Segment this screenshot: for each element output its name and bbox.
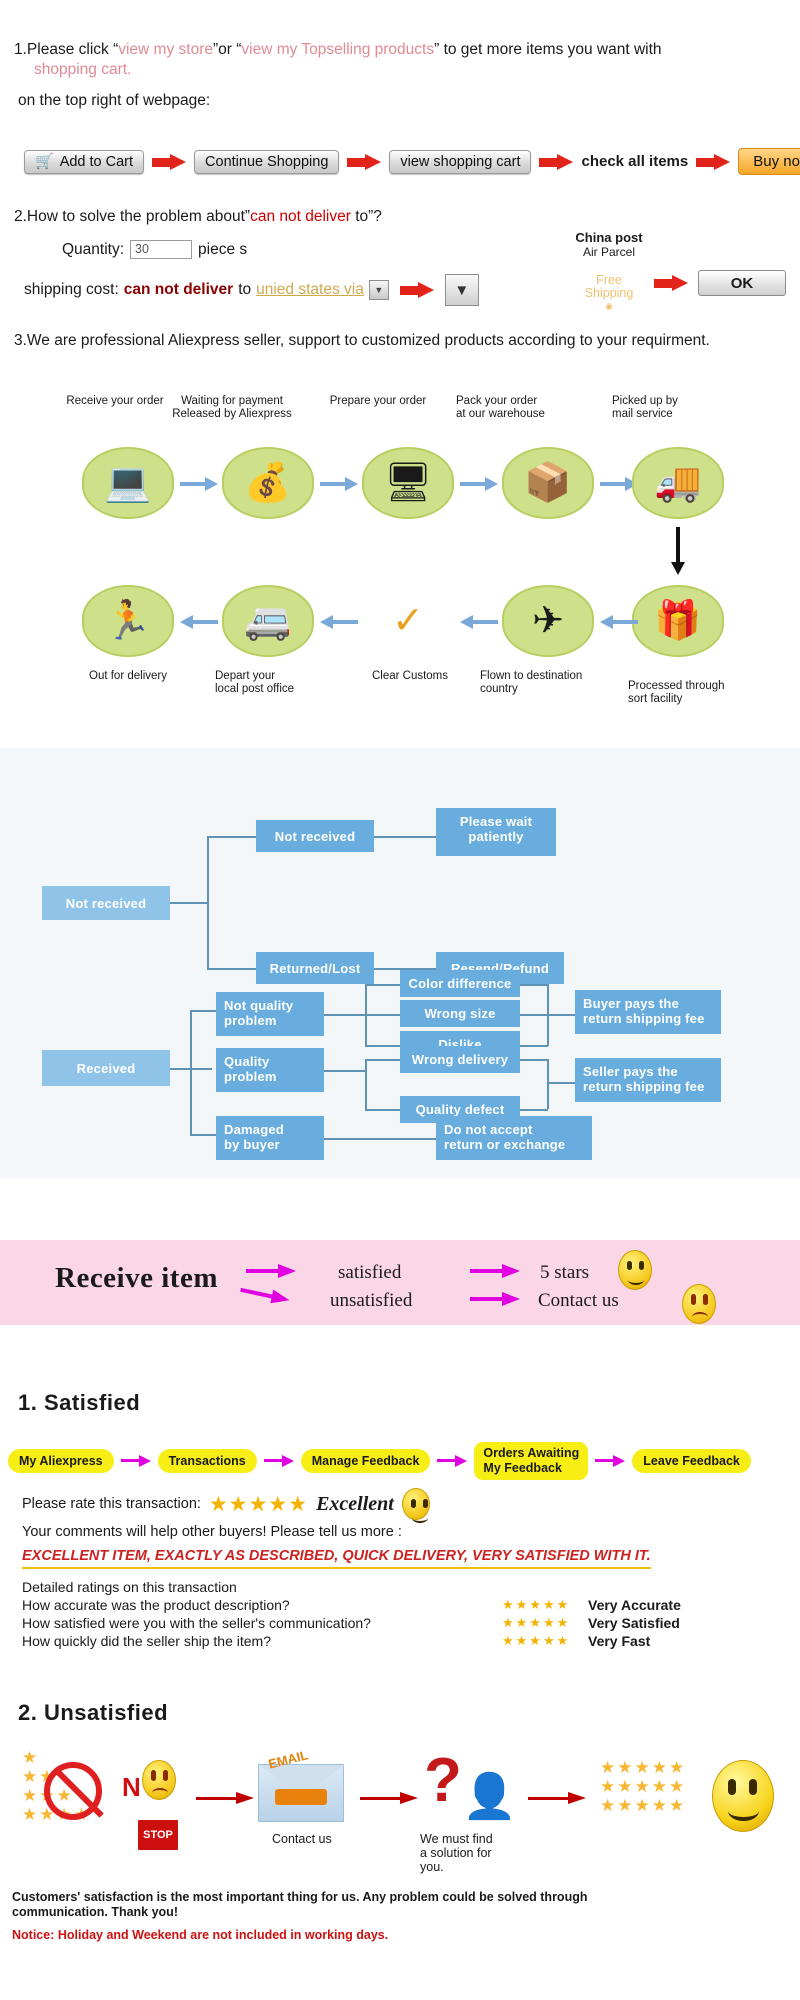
quantity-row: Quantity: 30 piece s bbox=[62, 240, 247, 259]
seller-pays-l1: Seller pays the bbox=[583, 1064, 678, 1079]
receive-item-satisfied: satisfied bbox=[338, 1262, 401, 1284]
delivery-truck-icon: 🚚 bbox=[632, 447, 724, 519]
connector-h-4 bbox=[374, 836, 436, 838]
comments-prompt: Your comments will help other buyers! Pl… bbox=[22, 1524, 782, 1540]
return-policy-flowchart: Not received Not received Please waitpat… bbox=[0, 748, 800, 1178]
connector-h-23 bbox=[324, 1138, 436, 1140]
arrow-unsatisfied-icon bbox=[239, 1283, 291, 1307]
receive-item-banner: Receive item satisfied unsatisfied 5 sta… bbox=[0, 1240, 800, 1325]
flow-caption-receive-order: Receive your order bbox=[60, 395, 170, 408]
no-return-l2: return or exchange bbox=[444, 1137, 565, 1152]
no-letter-label: N bbox=[122, 1772, 141, 1803]
receive-item-5-stars: 5 stars bbox=[540, 1262, 589, 1284]
flow-arrow-1 bbox=[180, 477, 218, 491]
detailed-ratings-title: Detailed ratings on this transaction bbox=[22, 1578, 782, 1596]
solution-caption: We must finda solution foryou. bbox=[420, 1832, 540, 1874]
detailed-rating-row: How quickly did the seller ship the item… bbox=[22, 1632, 782, 1650]
connector-v-2 bbox=[190, 1010, 192, 1134]
arrow-right-icon-12 bbox=[360, 1792, 418, 1804]
flow-arrow-down bbox=[671, 527, 685, 575]
flow-arrow-3 bbox=[460, 477, 498, 491]
flow-node-color-difference: Color difference bbox=[400, 970, 520, 997]
smiley-face-icon-small bbox=[402, 1488, 430, 1520]
thinking-person-icon: 👤 bbox=[462, 1770, 517, 1822]
shipping-to-text: to bbox=[238, 281, 251, 299]
connector-h-21 bbox=[520, 1109, 548, 1111]
star-grid-row-3: ★★★★★ bbox=[600, 1796, 686, 1815]
five-star-grid: ★★★★★ ★★★★★ ★★★★★ bbox=[600, 1758, 686, 1815]
arrow-right-icon-5 bbox=[400, 282, 434, 298]
detailed-answer-2: Very Satisfied bbox=[588, 1614, 680, 1632]
flow-caption-picked-up: Picked up bymail service bbox=[612, 395, 722, 421]
checkout-steps-row: 🛒 Add to Cart Continue Shopping view sho… bbox=[24, 148, 800, 175]
money-bag-icon: 💰 bbox=[222, 447, 314, 519]
star-grid-row-1: ★★★★★ bbox=[600, 1758, 686, 1777]
connector-v-6 bbox=[547, 1059, 549, 1109]
connector-h-13 bbox=[520, 984, 548, 986]
connector-h-8 bbox=[190, 1134, 216, 1136]
arrow-contact-icon bbox=[470, 1292, 520, 1306]
connector-h-15 bbox=[520, 1045, 548, 1047]
damaged-l2: by buyer bbox=[224, 1137, 280, 1152]
connector-h-17 bbox=[324, 1070, 366, 1072]
section-2-heading: 2.How to solve the problem about”can not… bbox=[14, 208, 794, 226]
contact-us-caption: Contact us bbox=[272, 1832, 332, 1846]
rating-block: Please rate this transaction: ★★★★★ Exce… bbox=[22, 1488, 782, 1569]
section-2-heading-red: can not deliver bbox=[250, 208, 351, 225]
connector-h-18 bbox=[365, 1059, 401, 1061]
flow-caption-waiting-payment: Waiting for paymentReleased by Aliexpres… bbox=[162, 395, 302, 421]
receive-item-contact-us: Contact us bbox=[538, 1290, 619, 1312]
section-1-shopping-cart-text: shopping cart. bbox=[14, 60, 794, 80]
flow-caption-prepare-order: Prepare your order bbox=[323, 395, 433, 408]
connector-h-12 bbox=[365, 1045, 401, 1047]
flow-arrow-2 bbox=[320, 477, 358, 491]
connector-h-14 bbox=[520, 1014, 548, 1016]
detailed-question-1: How accurate was the product description… bbox=[22, 1596, 502, 1614]
receive-item-unsatisfied: unsatisfied bbox=[330, 1290, 412, 1312]
view-shopping-cart-button[interactable]: view shopping cart bbox=[389, 150, 531, 174]
arrow-right-icon-1 bbox=[152, 154, 186, 170]
connector-h-11 bbox=[365, 1014, 401, 1016]
not-quality-l1: Not quality bbox=[224, 998, 293, 1013]
free-shipping-badge: Free Shipping ◉ bbox=[549, 274, 669, 313]
footer-line-2: communication. Thank you! bbox=[12, 1905, 792, 1920]
section-3-customization-note: 3.We are professional Aliexpress seller,… bbox=[14, 332, 710, 350]
free-shipping-radio-icon[interactable]: ◉ bbox=[549, 300, 669, 313]
worker-boxes-icon: 📦 bbox=[502, 447, 594, 519]
quantity-unit-label: piece s bbox=[198, 241, 247, 259]
free-shipping-line2: Shipping bbox=[549, 287, 669, 300]
flow-caption-sort-facility: Processed throughsort facility bbox=[628, 680, 756, 706]
crying-face-icon bbox=[142, 1760, 176, 1800]
shipping-cannot-deliver-text: can not deliver bbox=[124, 281, 233, 299]
arrow-right-icon-13 bbox=[528, 1792, 586, 1804]
detailed-stars-2[interactable]: ★★★★★ bbox=[502, 1614, 588, 1632]
detailed-answer-3: Very Fast bbox=[588, 1632, 650, 1650]
flow-caption-out-for-delivery: Out for delivery bbox=[68, 670, 188, 683]
flow-node-buyer-pays: Buyer pays thereturn shipping fee bbox=[575, 990, 721, 1034]
connector-h-1 bbox=[170, 902, 208, 904]
rate-transaction-label: Please rate this transaction: bbox=[22, 1496, 201, 1512]
detailed-question-2: How satisfied were you with the seller's… bbox=[22, 1614, 502, 1632]
detailed-rating-row: How accurate was the product description… bbox=[22, 1596, 782, 1614]
arrow-right-icon-7 bbox=[121, 1455, 151, 1467]
airplane-icon: ✈ bbox=[502, 585, 594, 657]
view-my-store-link[interactable]: view my store bbox=[118, 41, 213, 58]
shopping-cart-icon: 🛒 bbox=[35, 154, 54, 169]
satisfied-heading: 1. Satisfied bbox=[18, 1390, 140, 1416]
email-envelope-icon bbox=[258, 1764, 344, 1822]
detailed-stars-1[interactable]: ★★★★★ bbox=[502, 1596, 588, 1614]
footer-note: Customers' satisfaction is the most impo… bbox=[12, 1890, 792, 1942]
connector-v-1 bbox=[207, 836, 209, 968]
frowning-face-icon bbox=[682, 1284, 716, 1324]
ok-button[interactable]: OK bbox=[698, 270, 786, 296]
stop-sign-icon: STOP bbox=[136, 1818, 180, 1852]
section-2-heading-suffix: to”? bbox=[351, 208, 382, 225]
connector-h-16 bbox=[547, 1014, 575, 1016]
connector-h-20 bbox=[520, 1059, 548, 1061]
shipping-cost-label: shipping cost: bbox=[24, 281, 119, 299]
flow-node-wrong-delivery: Wrong delivery bbox=[400, 1046, 520, 1073]
connector-h-9 bbox=[324, 1014, 366, 1016]
continue-shopping-button[interactable]: Continue Shopping bbox=[194, 150, 339, 174]
shipping-cost-row: shipping cost:can not deliver to unied s… bbox=[24, 274, 479, 306]
footer-line-1: Customers' satisfaction is the most impo… bbox=[12, 1890, 792, 1905]
connector-h-22 bbox=[547, 1082, 575, 1084]
customs-stamp-icon: ✓ bbox=[362, 585, 454, 657]
arrow-right-icon-4 bbox=[696, 154, 730, 170]
footer-notice: Notice: Holiday and Weekend are not incl… bbox=[12, 1928, 792, 1942]
section-1-tail-text: ” to get more items you want with bbox=[434, 41, 661, 58]
buyer-pays-l2: return shipping fee bbox=[583, 1011, 705, 1026]
comment-text[interactable]: EXCELLENT ITEM, EXACTLY AS DESCRIBED, QU… bbox=[22, 1548, 651, 1569]
section-1-store-links: 1.Please click “view my store”or “view m… bbox=[14, 40, 794, 110]
arrow-right-icon-2 bbox=[347, 154, 381, 170]
flow-node-please-wait: Please waitpatiently bbox=[436, 808, 556, 856]
feedback-steps-row: My Aliexpress Transactions Manage Feedba… bbox=[8, 1442, 751, 1480]
continue-shopping-label: Continue Shopping bbox=[205, 154, 328, 170]
buy-now-button[interactable]: Buy now bbox=[738, 148, 800, 175]
connector-h-7 bbox=[190, 1010, 216, 1012]
flow-node-please-wait-l2: patiently bbox=[468, 829, 523, 844]
flow-node-not-received-root: Not received bbox=[42, 886, 170, 920]
flow-caption-flown-destination: Flown to destinationcountry bbox=[480, 670, 608, 696]
not-quality-l2: problem bbox=[224, 1013, 277, 1028]
chevron-down-icon-small[interactable]: ▼ bbox=[369, 280, 389, 300]
arrow-right-icon-3 bbox=[539, 154, 573, 170]
detailed-ratings-block: Detailed ratings on this transaction How… bbox=[22, 1578, 782, 1650]
connector-h-19 bbox=[365, 1109, 401, 1111]
flow-arrow-8 bbox=[600, 615, 638, 629]
courier-running-icon: 🏃 bbox=[82, 585, 174, 657]
flow-node-quality-problem: Qualityproblem bbox=[216, 1048, 324, 1092]
rate-transaction-row: Please rate this transaction: ★★★★★ Exce… bbox=[22, 1488, 782, 1520]
step-transactions[interactable]: Transactions bbox=[158, 1449, 257, 1473]
step-my-aliexpress[interactable]: My Aliexpress bbox=[8, 1449, 114, 1473]
ok-row: OK bbox=[654, 270, 786, 296]
unsatisfied-heading: 2. Unsatisfied bbox=[18, 1700, 168, 1726]
destination-country-value[interactable]: unied states via bbox=[256, 281, 364, 299]
add-to-cart-label: Add to Cart bbox=[60, 154, 133, 170]
question-mark-icon: ? bbox=[424, 1750, 462, 1812]
carrier-name: China post bbox=[549, 230, 669, 245]
detailed-rating-row: How satisfied were you with the seller's… bbox=[22, 1614, 782, 1632]
person-at-computer-icon: 💻 bbox=[82, 447, 174, 519]
computer-icon: 🖥 bbox=[362, 447, 454, 519]
parcel-sorting-icon: 🎁 bbox=[632, 585, 724, 657]
buyer-pays-l1: Buyer pays the bbox=[583, 996, 679, 1011]
arrow-right-icon-9 bbox=[437, 1455, 467, 1467]
connector-h-3 bbox=[207, 968, 257, 970]
view-shopping-cart-label: view shopping cart bbox=[400, 154, 520, 170]
arrow-5-stars-icon bbox=[470, 1264, 520, 1278]
quality-l2: problem bbox=[224, 1069, 277, 1084]
arrow-right-icon-10 bbox=[595, 1455, 625, 1467]
flow-arrow-5 bbox=[180, 615, 218, 629]
rating-stars[interactable]: ★★★★★ bbox=[209, 1494, 308, 1515]
receive-item-title: Receive item bbox=[55, 1262, 218, 1295]
flow-node-please-wait-l1: Please wait bbox=[460, 814, 532, 829]
unsatisfied-flow: ★ ★★ ★★★ ★★★★ N STOP EMAIL Contact us ? … bbox=[0, 1740, 800, 1870]
prohibition-icon bbox=[44, 1762, 102, 1820]
flow-node-damaged-by-buyer: Damagedby buyer bbox=[216, 1116, 324, 1160]
arrow-right-icon-6 bbox=[654, 275, 688, 291]
flow-node-not-quality-problem: Not qualityproblem bbox=[216, 992, 324, 1036]
quantity-input[interactable]: 30 bbox=[130, 240, 192, 259]
flow-node-not-received-branch: Not received bbox=[256, 820, 374, 852]
flow-caption-depart-post-office: Depart yourlocal post office bbox=[215, 670, 325, 696]
flow-caption-clear-customs: Clear Customs bbox=[350, 670, 470, 683]
smiley-face-icon bbox=[618, 1250, 652, 1290]
detailed-answer-1: Very Accurate bbox=[588, 1596, 681, 1614]
connector-h-10 bbox=[365, 984, 401, 986]
arrow-right-icon-11 bbox=[196, 1792, 254, 1804]
shipping-process-diagram: Receive your order Waiting for paymentRe… bbox=[0, 395, 800, 725]
section-1-lead-text: 1.Please click “ bbox=[14, 41, 118, 58]
quantity-label: Quantity: bbox=[62, 241, 124, 259]
connector-h-2 bbox=[207, 836, 257, 838]
section-2-heading-prefix: 2.How to solve the problem about” bbox=[14, 208, 250, 225]
damaged-l1: Damaged bbox=[224, 1122, 284, 1137]
arrow-right-icon-8 bbox=[264, 1455, 294, 1467]
orders-awaiting-l2: My Feedback bbox=[483, 1461, 562, 1475]
van-icon: 🚐 bbox=[222, 585, 314, 657]
step-leave-feedback[interactable]: Leave Feedback bbox=[632, 1449, 751, 1473]
step-manage-feedback[interactable]: Manage Feedback bbox=[301, 1449, 431, 1473]
orders-awaiting-l1: Orders Awaiting bbox=[483, 1446, 579, 1460]
star-grid-row-2: ★★★★★ bbox=[600, 1777, 686, 1796]
seller-pays-l2: return shipping fee bbox=[583, 1079, 705, 1094]
arrow-satisfied-icon bbox=[246, 1264, 296, 1278]
rating-word: Excellent bbox=[316, 1493, 394, 1516]
flow-node-wrong-size: Wrong size bbox=[400, 1000, 520, 1027]
detailed-stars-3[interactable]: ★★★★★ bbox=[502, 1632, 588, 1650]
flow-node-returned-lost: Returned/Lost bbox=[256, 952, 374, 984]
no-return-l1: Do not accept bbox=[444, 1122, 533, 1137]
flow-caption-pack-order: Pack your orderat our warehouse bbox=[456, 395, 568, 421]
quality-l1: Quality bbox=[224, 1054, 269, 1069]
section-1-top-right-note: on the top right of webpage: bbox=[14, 92, 794, 110]
carrier-service: Air Parcel bbox=[549, 245, 669, 259]
section-1-lead-line: 1.Please click “view my store”or “view m… bbox=[14, 40, 794, 60]
chevron-down-icon-large[interactable]: ▼ bbox=[445, 274, 479, 306]
detailed-question-3: How quickly did the seller ship the item… bbox=[22, 1632, 502, 1650]
carrier-info: China post Air Parcel bbox=[549, 230, 669, 259]
flow-arrow-7 bbox=[460, 615, 498, 629]
section-1-mid-text: ”or “ bbox=[213, 41, 241, 58]
add-to-cart-button[interactable]: 🛒 Add to Cart bbox=[24, 150, 144, 174]
big-smiley-face-icon bbox=[712, 1760, 774, 1832]
flow-node-no-return: Do not acceptreturn or exchange bbox=[436, 1116, 592, 1160]
check-all-items-label[interactable]: check all items bbox=[581, 153, 688, 170]
section-2-cannot-deliver: 2.How to solve the problem about”can not… bbox=[14, 208, 794, 226]
connector-v-5 bbox=[365, 1059, 367, 1109]
step-orders-awaiting-feedback[interactable]: Orders AwaitingMy Feedback bbox=[474, 1442, 588, 1480]
flow-node-received-root: Received bbox=[42, 1050, 170, 1086]
flow-arrow-6 bbox=[320, 615, 358, 629]
view-topselling-products-link[interactable]: view my Topselling products bbox=[241, 41, 434, 58]
flow-node-seller-pays: Seller pays thereturn shipping fee bbox=[575, 1058, 721, 1102]
